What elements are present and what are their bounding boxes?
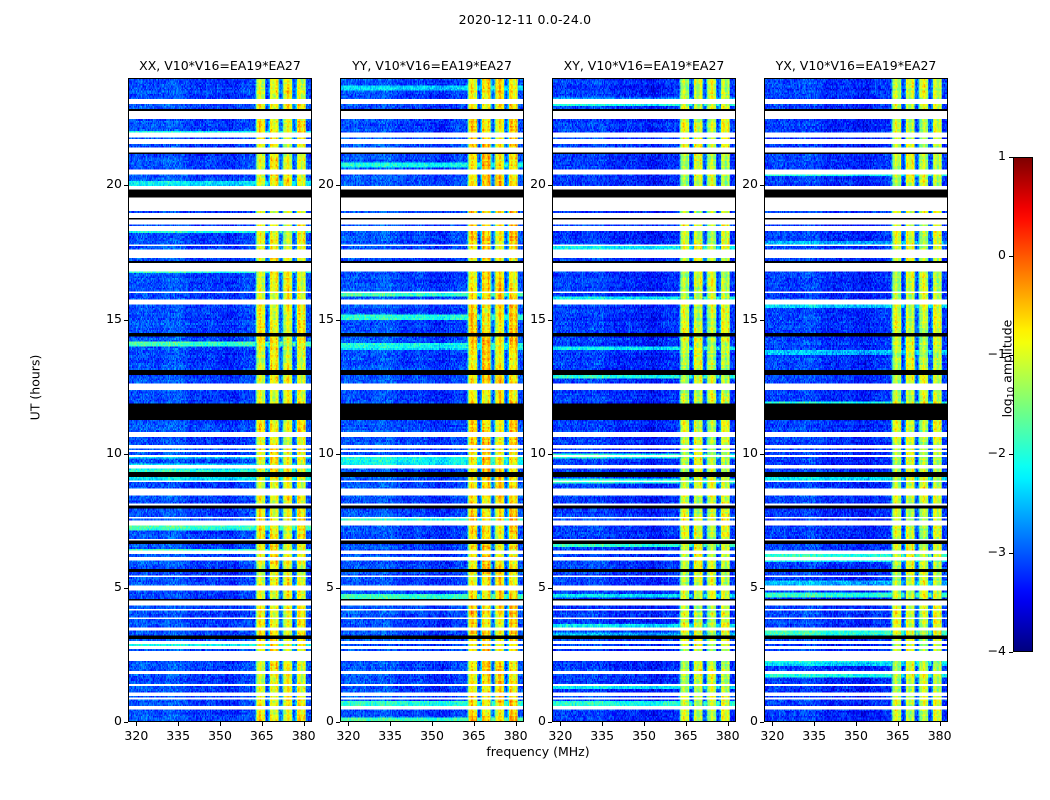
y-axis-tick-label: 15 — [512, 311, 546, 326]
x-axis-tick-mark — [772, 722, 773, 726]
x-axis-label: frequency (MHz) — [368, 744, 708, 759]
x-axis-tick-mark — [474, 722, 475, 726]
panel-title-xx: XX, V10*V16=EA19*EA27 — [128, 58, 312, 76]
x-axis-tick-mark — [602, 722, 603, 726]
x-axis-tick-label: 320 — [328, 728, 368, 743]
x-axis-tick-mark — [220, 722, 221, 726]
x-axis-tick-mark — [136, 722, 137, 726]
x-axis-tick-mark — [262, 722, 263, 726]
colorbar-tick-label: 1 — [972, 148, 1006, 163]
x-axis-tick-mark — [348, 722, 349, 726]
panel-title-yy: YY, V10*V16=EA19*EA27 — [340, 58, 524, 76]
y-axis-tick-label: 20 — [88, 176, 122, 191]
colorbar-tick-label: −1 — [972, 346, 1006, 361]
x-axis-tick-label: 365 — [242, 728, 282, 743]
y-axis-tick-label: 5 — [512, 579, 546, 594]
colorbar-tick-mark — [1009, 256, 1013, 257]
x-axis-tick-mark — [686, 722, 687, 726]
y-axis-tick-mark — [336, 588, 340, 589]
colorbar-tick-label: −2 — [972, 445, 1006, 460]
y-axis-tick-mark — [124, 588, 128, 589]
y-axis-tick-mark — [760, 185, 764, 186]
y-axis-tick-label: 10 — [724, 445, 758, 460]
y-axis-tick-mark — [124, 185, 128, 186]
colorbar-gradient — [1014, 158, 1032, 651]
x-axis-tick-label: 335 — [582, 728, 622, 743]
y-axis-tick-label: 0 — [300, 713, 334, 728]
colorbar-tick-label: 0 — [972, 247, 1006, 262]
y-axis-tick-label: 20 — [512, 176, 546, 191]
waterfall-panel-xy[interactable] — [552, 78, 736, 722]
x-axis-tick-label: 320 — [116, 728, 156, 743]
y-axis-tick-mark — [760, 588, 764, 589]
y-axis-tick-mark — [336, 185, 340, 186]
y-axis-tick-label: 20 — [300, 176, 334, 191]
y-axis-tick-label: 15 — [300, 311, 334, 326]
waterfall-image — [341, 79, 523, 721]
y-axis-tick-mark — [548, 320, 552, 321]
waterfall-image — [553, 79, 735, 721]
y-axis-tick-label: 10 — [512, 445, 546, 460]
y-axis-tick-label: 15 — [88, 311, 122, 326]
x-axis-tick-mark — [940, 722, 941, 726]
x-axis-tick-mark — [898, 722, 899, 726]
y-axis-tick-label: 0 — [88, 713, 122, 728]
y-axis-tick-mark — [124, 454, 128, 455]
y-axis-tick-mark — [548, 722, 552, 723]
y-axis-tick-mark — [124, 320, 128, 321]
y-axis-tick-mark — [336, 320, 340, 321]
y-axis-tick-mark — [548, 454, 552, 455]
x-axis-tick-label: 350 — [200, 728, 240, 743]
panel-title-xy: XY, V10*V16=EA19*EA27 — [552, 58, 736, 76]
x-axis-tick-label: 380 — [284, 728, 324, 743]
y-axis-tick-label: 0 — [512, 713, 546, 728]
colorbar-label-subscript: 10 — [1007, 387, 1017, 398]
y-axis-tick-label: 5 — [300, 579, 334, 594]
y-axis-tick-label: 5 — [88, 579, 122, 594]
x-axis-tick-mark — [560, 722, 561, 726]
x-axis-tick-label: 350 — [412, 728, 452, 743]
colorbar-tick-mark — [1009, 454, 1013, 455]
figure-canvas: 2020-12-11 0.0-24.0 XX, V10*V16=EA19*EA2… — [0, 0, 1050, 800]
x-axis-tick-label: 365 — [878, 728, 918, 743]
y-axis-tick-label: 10 — [300, 445, 334, 460]
x-axis-tick-label: 320 — [752, 728, 792, 743]
y-axis-tick-mark — [336, 454, 340, 455]
y-axis-tick-mark — [336, 722, 340, 723]
x-axis-tick-mark — [814, 722, 815, 726]
x-axis-tick-mark — [856, 722, 857, 726]
y-axis-tick-mark — [760, 320, 764, 321]
panel-title-yx: YX, V10*V16=EA19*EA27 — [764, 58, 948, 76]
x-axis-tick-label: 380 — [920, 728, 960, 743]
y-axis-tick-mark — [760, 454, 764, 455]
x-axis-tick-mark — [390, 722, 391, 726]
waterfall-panel-yx[interactable] — [764, 78, 948, 722]
waterfall-image — [765, 79, 947, 721]
colorbar-tick-label: −4 — [972, 643, 1006, 658]
y-axis-label: UT (hours) — [28, 328, 43, 448]
y-axis-tick-mark — [548, 185, 552, 186]
x-axis-tick-label: 350 — [836, 728, 876, 743]
y-axis-tick-mark — [124, 722, 128, 723]
x-axis-tick-label: 350 — [624, 728, 664, 743]
colorbar-tick-mark — [1009, 553, 1013, 554]
y-axis-tick-label: 5 — [724, 579, 758, 594]
colorbar-tick-mark — [1009, 355, 1013, 356]
colorbar-tick-mark — [1009, 157, 1013, 158]
x-axis-tick-label: 320 — [540, 728, 580, 743]
figure-suptitle: 2020-12-11 0.0-24.0 — [0, 12, 1050, 27]
x-axis-tick-label: 365 — [454, 728, 494, 743]
colorbar-tick-label: −3 — [972, 544, 1006, 559]
waterfall-panel-xx[interactable] — [128, 78, 312, 722]
waterfall-image — [129, 79, 311, 721]
x-axis-tick-label: 365 — [666, 728, 706, 743]
colorbar-tick-mark — [1009, 652, 1013, 653]
x-axis-tick-label: 380 — [496, 728, 536, 743]
y-axis-tick-label: 15 — [724, 311, 758, 326]
waterfall-panel-yy[interactable] — [340, 78, 524, 722]
x-axis-tick-label: 335 — [370, 728, 410, 743]
x-axis-tick-label: 335 — [794, 728, 834, 743]
x-axis-tick-label: 380 — [708, 728, 748, 743]
x-axis-tick-label: 335 — [158, 728, 198, 743]
y-axis-tick-mark — [760, 722, 764, 723]
x-axis-tick-mark — [432, 722, 433, 726]
colorbar-label: log10 amplitude — [1000, 309, 1017, 429]
y-axis-tick-label: 20 — [724, 176, 758, 191]
x-axis-tick-mark — [178, 722, 179, 726]
colorbar-label-prefix: log — [1000, 398, 1015, 417]
x-axis-tick-mark — [644, 722, 645, 726]
y-axis-tick-label: 0 — [724, 713, 758, 728]
y-axis-tick-mark — [548, 588, 552, 589]
y-axis-tick-label: 10 — [88, 445, 122, 460]
